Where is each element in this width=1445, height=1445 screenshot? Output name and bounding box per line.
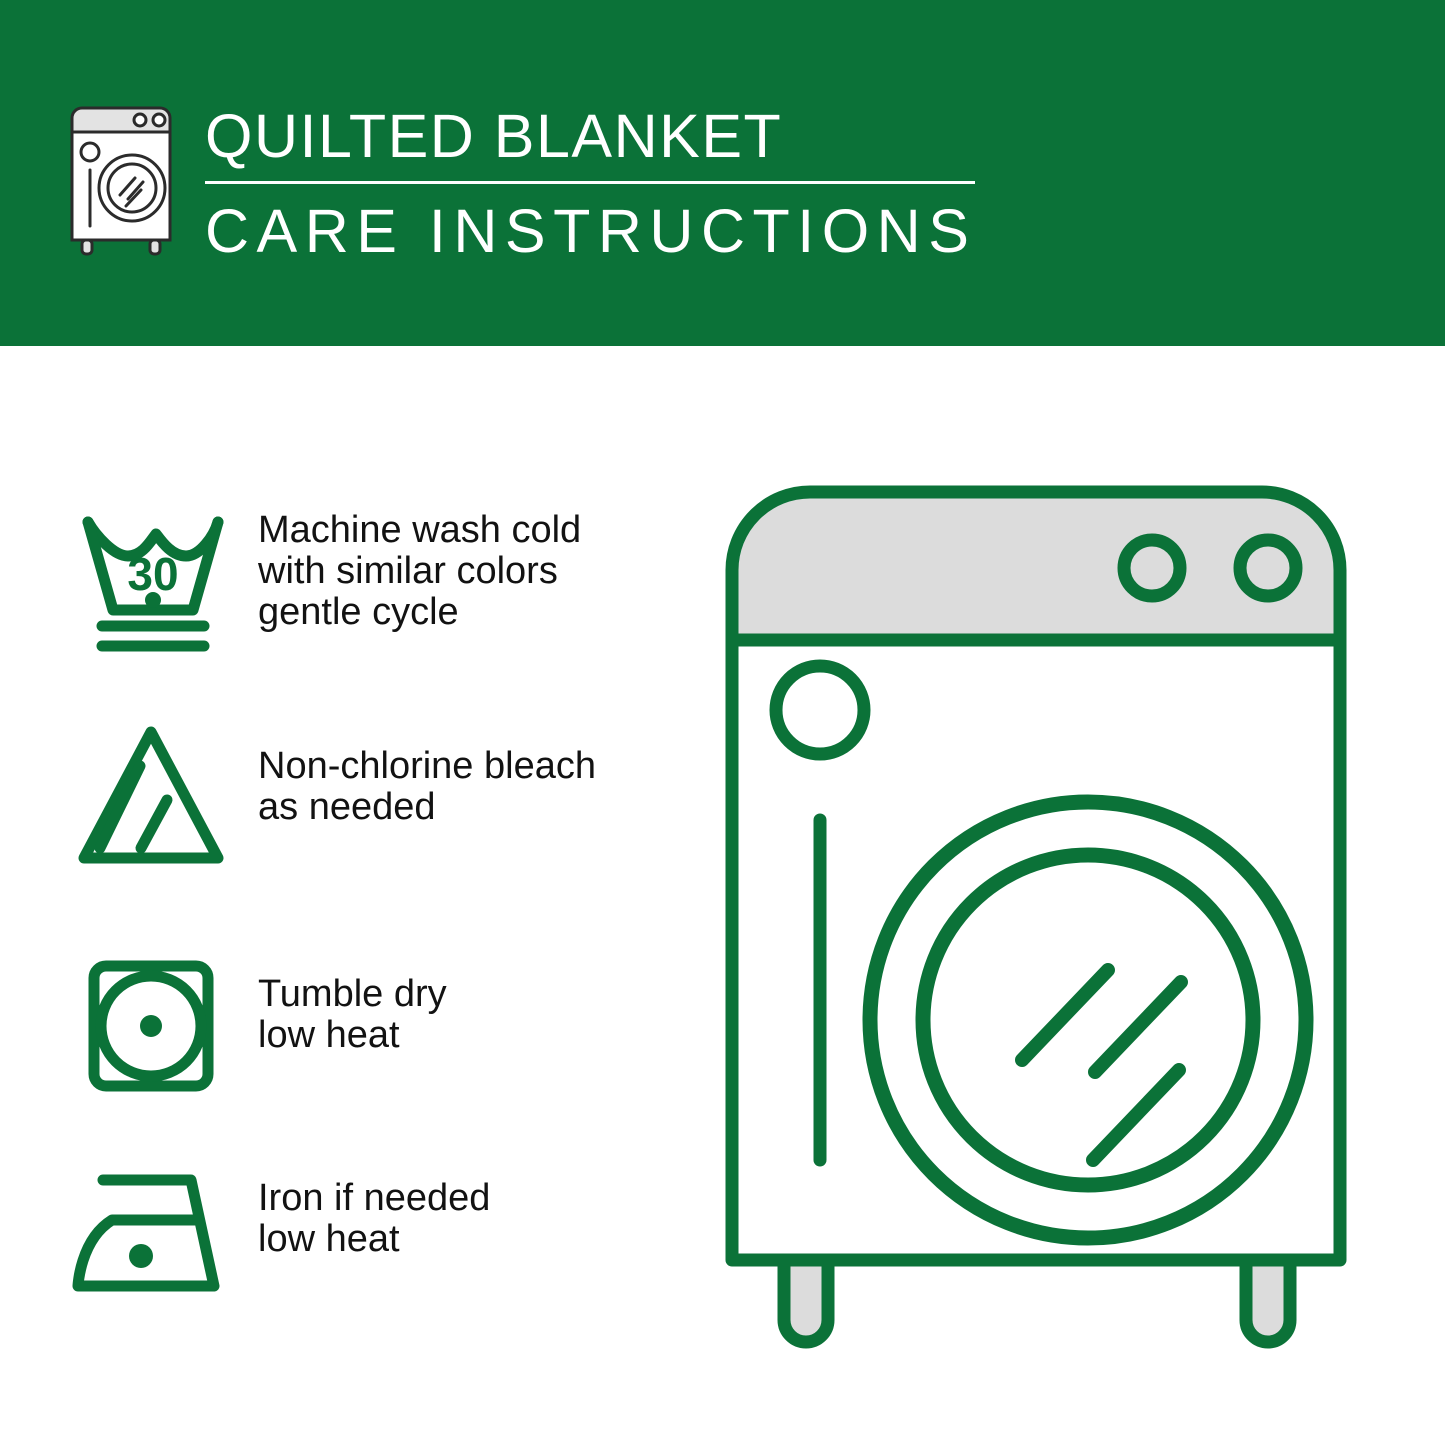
care-text-line: Tumble dry — [258, 974, 700, 1015]
care-text-iron: Iron if needed low heat — [258, 1154, 700, 1260]
page-subtitle: CARE INSTRUCTIONS — [205, 198, 995, 264]
leg-right — [1246, 1260, 1290, 1342]
care-row-machine-wash: 30 Machine wash cold with similar colors… — [0, 498, 700, 658]
non-chlorine-bleach-triangle-icon — [66, 716, 236, 876]
care-text-tumble-dry: Tumble dry low heat — [258, 946, 700, 1056]
control-panel — [732, 492, 1340, 640]
care-text-line: Iron if needed — [258, 1178, 700, 1219]
care-text-machine-wash: Machine wash cold with similar colors ge… — [258, 498, 700, 633]
iron-low-heat-icon — [66, 1154, 236, 1314]
care-text-line: with similar colors — [258, 551, 700, 592]
header-title-block: QUILTED BLANKET CARE INSTRUCTIONS — [205, 103, 995, 264]
title-divider — [205, 181, 975, 184]
leg-left — [784, 1260, 828, 1342]
care-row-iron: Iron if needed low heat — [0, 1154, 700, 1314]
tumble-dry-low-heat-icon — [66, 946, 236, 1106]
care-text-line: low heat — [258, 1015, 700, 1056]
care-row-bleach: Non-chlorine bleach as needed — [0, 716, 700, 876]
front-load-washing-machine-illustration — [700, 460, 1400, 1380]
washing-machine-icon — [62, 100, 190, 256]
page-title: QUILTED BLANKET — [205, 103, 995, 169]
wash-tub-30-gentle-icon: 30 — [66, 498, 236, 658]
header-banner: QUILTED BLANKET CARE INSTRUCTIONS — [0, 0, 1445, 346]
care-text-line: Non-chlorine bleach — [258, 746, 700, 787]
care-text-line: gentle cycle — [258, 592, 700, 633]
care-text-line: low heat — [258, 1219, 700, 1260]
care-text-line: Machine wash cold — [258, 510, 700, 551]
care-row-tumble-dry: Tumble dry low heat — [0, 946, 700, 1106]
care-text-bleach: Non-chlorine bleach as needed — [258, 716, 700, 828]
care-text-line: as needed — [258, 787, 700, 828]
care-instruction-list: 30 Machine wash cold with similar colors… — [0, 346, 700, 1445]
care-instructions-infographic: QUILTED BLANKET CARE INSTRUCTIONS 30 — [0, 0, 1445, 1445]
